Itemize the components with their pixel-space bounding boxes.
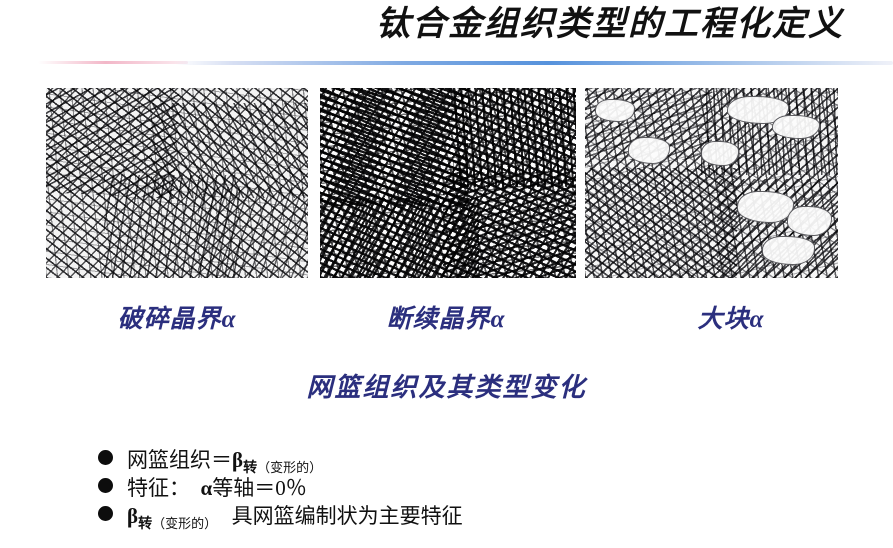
bullet-3-symbol: β	[127, 504, 138, 528]
blocky-alpha-particle	[772, 115, 820, 140]
bullet-1-lead: 网篮组织＝	[127, 448, 232, 472]
bullet-dot-icon	[98, 506, 113, 521]
bullet-item-2: 特征： α等轴＝0％	[98, 475, 798, 503]
bullet-2-lead: 特征：	[127, 476, 201, 500]
bullet-dot-icon	[98, 450, 113, 465]
section-subtitle: 网篮组织及其类型变化	[0, 370, 893, 406]
bullet-1-note: （变形的）	[257, 460, 322, 475]
blocky-alpha-particle	[701, 141, 738, 166]
blocky-alpha-particle	[595, 99, 635, 122]
blocky-alpha-particle	[628, 137, 670, 164]
bullet-2-symbol: α	[201, 476, 213, 500]
bullet-item-3: β转（变形的） 具网篮编制状为主要特征	[98, 503, 798, 531]
blocky-alpha-particle	[787, 206, 832, 237]
figure-caption-1: 破碎晶界α	[86, 303, 268, 337]
bullet-3-tail: 具网篮编制状为主要特征	[211, 504, 463, 528]
divider-blue	[175, 61, 893, 65]
micrograph-grain-domain	[198, 187, 308, 278]
blocky-alpha-particle	[762, 236, 815, 265]
divider-pink	[38, 61, 188, 64]
bullet-1-symbol: β	[232, 448, 243, 472]
figure-caption-3: 大块α	[640, 303, 822, 337]
micrograph-grain-domain	[443, 172, 576, 278]
blocky-alpha-particle	[737, 191, 795, 223]
micrograph-broken-grain-boundary-alpha	[46, 88, 308, 278]
micrograph-grain-domain	[585, 168, 737, 278]
bullet-2-tail: 等轴＝0％	[212, 476, 307, 500]
bullet-3-subscript: 转	[138, 517, 152, 532]
bullet-item-1: 网篮组织＝β转（变形的）	[98, 447, 798, 475]
bullet-3-note: （变形的）	[152, 516, 211, 531]
figure-caption-2: 断续晶界α	[355, 303, 537, 337]
micrograph-blocky-alpha	[585, 88, 838, 278]
bullet-list: 网篮组织＝β转（变形的） 特征： α等轴＝0％ β转（变形的） 具网篮编制状为主…	[98, 447, 798, 531]
bullet-1-subscript: 转	[243, 461, 257, 476]
micrograph-discontinuous-grain-boundary-alpha	[320, 88, 576, 278]
page-title: 钛合金组织类型的工程化定义	[330, 2, 890, 50]
bullet-item-3-text: β转（变形的） 具网篮编制状为主要特征	[127, 503, 463, 538]
bullet-dot-icon	[98, 478, 113, 493]
